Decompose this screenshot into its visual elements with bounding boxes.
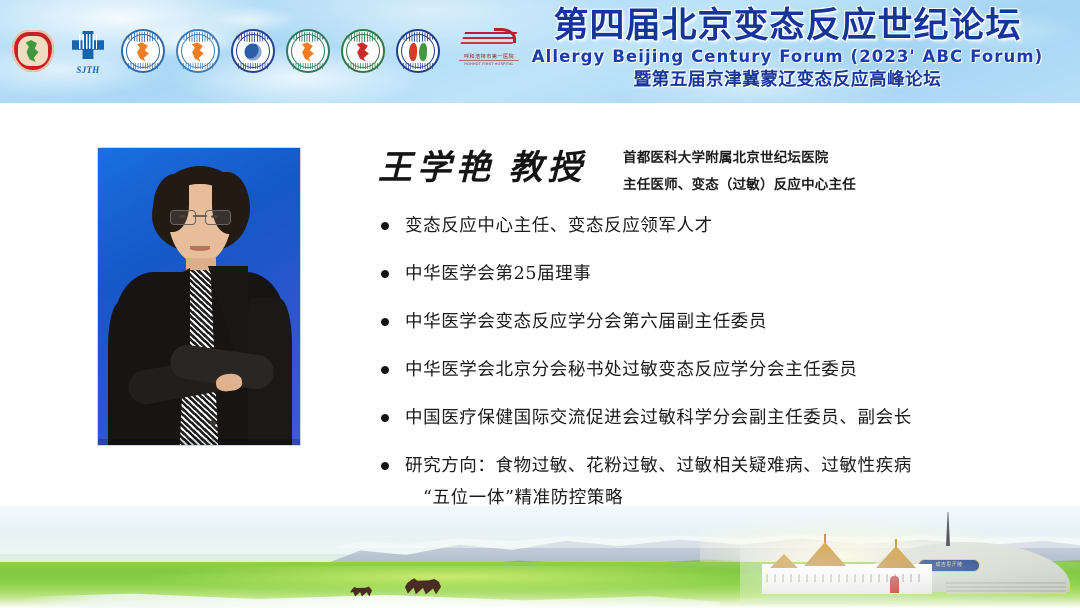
bullet-dot-icon	[381, 222, 389, 230]
bullet-dot-icon	[381, 366, 389, 374]
golden-roof-center	[804, 542, 846, 566]
slide-body: 王学艳 教授 首都医科大学附属北京世纪坛医院 主任医师、变态（过敏）反应中心主任…	[0, 103, 1080, 535]
logo-seal-orange-map-1-icon	[120, 28, 166, 74]
credential-text-line-1: 研究方向：食物过敏、花粉过敏、过敏相关疑难病、过敏性疾病	[405, 456, 912, 476]
logo-red-shield-seal-icon	[10, 28, 56, 74]
credential-text: 中华医学会北京分会秘书处过敏变态反应学分会主任委员	[405, 360, 858, 380]
slide-root: SJTH	[0, 0, 1080, 608]
bullet-dot-icon	[381, 270, 389, 278]
logo-seal-red-map-icon	[340, 28, 386, 74]
forum-title-en: Allergy Beijing Century Forum (2023' ABC…	[500, 46, 1075, 68]
dome-steps	[946, 580, 1066, 594]
logo-sjth-label: SJTH	[65, 65, 111, 75]
roof-finial-right	[895, 539, 897, 548]
footer-landscape-image: 成吉思汗陵	[0, 506, 1080, 608]
affiliation-line-2: 主任医师、变态（过敏）反应中心主任	[623, 171, 953, 198]
roof-finial-center	[824, 534, 826, 543]
list-item: 变态反应中心主任、变态反应领军人才	[378, 213, 1048, 239]
bullet-dot-icon	[381, 414, 389, 422]
speaker-affiliation: 首都医科大学附属北京世纪坛医院 主任医师、变态（过敏）反应中心主任	[623, 144, 953, 198]
speaker-portrait-photo	[97, 147, 301, 446]
logo-sjth-cross-icon: SJTH	[65, 28, 111, 74]
list-item: 研究方向：食物过敏、花粉过敏、过敏相关疑难病、过敏性疾病“五位一体”精准防控策略	[378, 453, 1048, 511]
bullet-dot-icon	[381, 318, 389, 326]
logo-seal-leaf-pair-icon	[395, 28, 441, 74]
bullet-dot-icon	[381, 462, 389, 470]
credential-text: 中国医疗保健国际交流促进会过敏科学分会副主任委员、副会长	[405, 408, 912, 428]
credential-text: 中华医学会变态反应学分会第六届副主任委员	[405, 312, 767, 332]
forum-title-block: 第四届北京变态反应世纪论坛 Allergy Beijing Century Fo…	[500, 6, 1075, 92]
credentials-list: 变态反应中心主任、变态反应领军人才 中华医学会第25届理事 中华医学会变态反应学…	[378, 213, 1048, 511]
credential-text: 变态反应中心主任、变态反应领军人才	[405, 216, 713, 236]
list-item: 中华医学会第25届理事	[378, 261, 1048, 287]
sponsor-logo-row: SJTH	[10, 22, 528, 80]
hall-red-door	[890, 576, 899, 593]
header-banner: SJTH	[0, 0, 1080, 103]
grassland-highlight	[140, 566, 760, 592]
mongolian-buildings: 成吉思汗陵	[750, 536, 1080, 596]
golden-roof-left	[770, 554, 798, 568]
logo-seal-orange-map-3-icon	[285, 28, 331, 74]
eyeglasses-icon	[169, 210, 232, 225]
forum-subtitle-cn: 暨第五届京津冀蒙辽变态反应高峰论坛	[500, 68, 1075, 92]
speaker-name: 王学艳 教授	[378, 140, 587, 189]
logo-seal-orange-map-2-icon	[175, 28, 221, 74]
logo-seal-blue-globe-icon	[230, 28, 276, 74]
credential-text: 研究方向：食物过敏、花粉过敏、过敏相关疑难病、过敏性疾病“五位一体”精准防控策略	[405, 456, 1048, 511]
forum-title-cn: 第四届北京变态反应世纪论坛	[500, 6, 1075, 46]
list-item: 中华医学会变态反应学分会第六届副主任委员	[378, 309, 1048, 335]
list-item: 中华医学会北京分会秘书处过敏变态反应学分会主任委员	[378, 357, 1048, 383]
list-item: 中国医疗保健国际交流促进会过敏科学分会副主任委员、副会长	[378, 405, 1048, 431]
hall-windows	[766, 574, 926, 582]
credential-text: 中华医学会第25届理事	[405, 264, 591, 284]
affiliation-line-1: 首都医科大学附属北京世纪坛医院	[623, 144, 953, 171]
